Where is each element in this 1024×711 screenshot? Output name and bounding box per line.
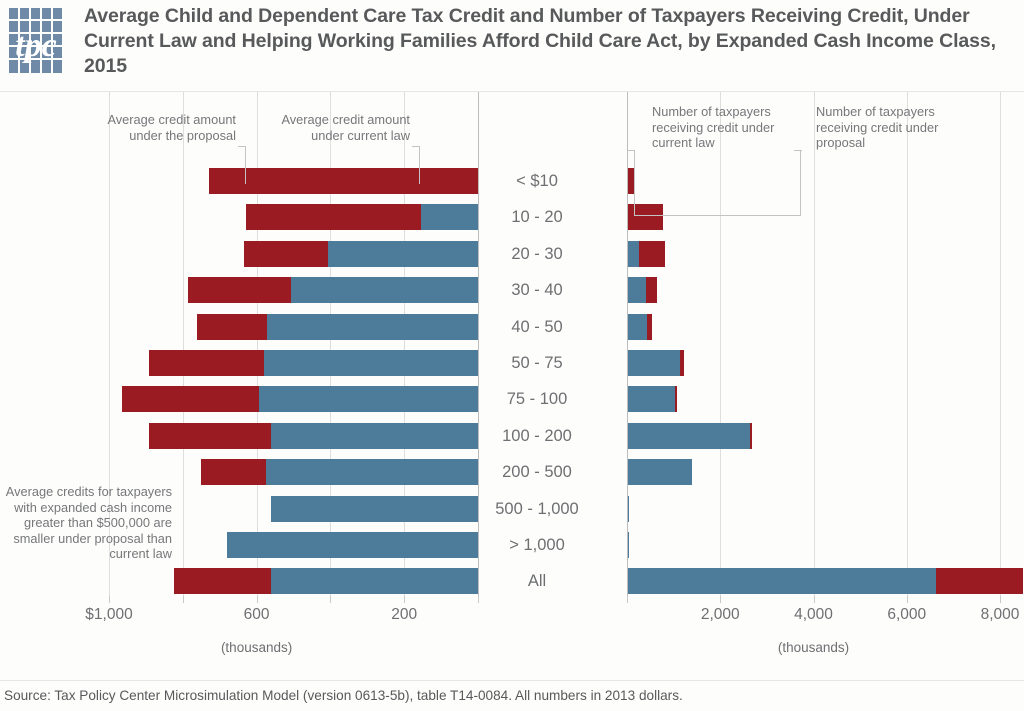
leader-line-proposal (245, 146, 246, 184)
axis-unit-right: (thousands) (714, 640, 914, 655)
tick-right-0 (627, 596, 628, 603)
leader-line-n-bracket (627, 150, 635, 151)
source-note: Source: Tax Policy Center Microsimulatio… (4, 688, 683, 703)
tick-left-0 (478, 596, 479, 603)
footer-divider (0, 680, 1024, 681)
tick-left-600 (257, 596, 258, 603)
tick-left-400 (330, 596, 331, 603)
tick-right-6000 (907, 596, 908, 603)
leader-line-n-prop (800, 150, 801, 216)
leader-line-current-tick (412, 146, 420, 147)
annotation-taxpayers-proposal: Number of taxpayers receiving credit und… (816, 104, 966, 151)
leader-line-proposal-tick (238, 146, 246, 147)
category-label-8: 200 - 500 (452, 463, 622, 481)
category-label-9: 500 - 1,000 (452, 500, 622, 518)
category-label-3: 30 - 40 (452, 281, 622, 299)
category-label-11: All (452, 572, 622, 590)
tick-label-left-600: 600 (197, 606, 317, 624)
svg-text:tpc: tpc (15, 27, 57, 64)
annotation-high-income-note: Average credits for taxpayers with expan… (2, 484, 172, 562)
tick-label-left-1000: $1,000 (49, 606, 169, 624)
tick-right-2000 (720, 596, 721, 603)
tick-right-4000 (814, 596, 815, 603)
category-label-0: < $10 (452, 172, 622, 190)
leader-line-n-current (634, 150, 635, 216)
category-label-6: 75 - 100 (452, 390, 622, 408)
category-label-7: 100 - 200 (452, 427, 622, 445)
category-label-10: > 1,000 (452, 536, 622, 554)
tpc-logo-icon: tpc (8, 6, 66, 76)
chart-header: tpc Average Child and Dependent Care Tax… (0, 0, 1024, 92)
leader-line-n-current-horz (634, 215, 801, 216)
tick-label-left-200: 200 (344, 606, 464, 624)
axis-unit-left: (thousands) (157, 640, 357, 655)
tick-left-1000 (109, 596, 110, 603)
leader-line-current (419, 146, 420, 184)
tick-left-200 (404, 596, 405, 603)
category-label-4: 40 - 50 (452, 318, 622, 336)
category-label-2: 20 - 30 (452, 245, 622, 263)
leader-line-n-prop-bracket (794, 150, 802, 151)
tick-label-right-8000: 8,000 (940, 606, 1024, 624)
annotation-taxpayers-current-law: Number of taxpayers receiving credit und… (652, 104, 804, 151)
tick-left-800 (183, 596, 184, 603)
page-title: Average Child and Dependent Care Tax Cre… (84, 4, 1014, 79)
tick-right-8000 (1000, 596, 1001, 603)
annotation-proposal-credit: Average credit amount under the proposal (90, 112, 236, 143)
annotation-current-credit: Average credit amount under current law (262, 112, 410, 143)
category-label-5: 50 - 75 (452, 354, 622, 372)
category-label-1: 10 - 20 (452, 208, 622, 226)
